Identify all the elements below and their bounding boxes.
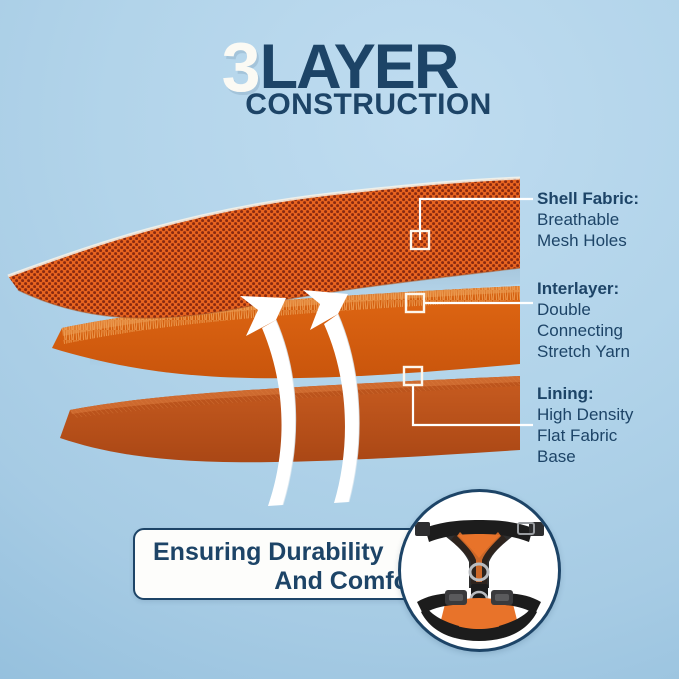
dog-harness-icon — [401, 492, 558, 649]
callout-lining-line4: Base — [537, 446, 633, 467]
callout-lining-line2: High Density — [537, 404, 633, 425]
callout-interlayer-line2: Double — [537, 299, 630, 320]
callout-shell-fabric-line3: Mesh Holes — [537, 230, 639, 251]
callout-shell-fabric-heading: Shell Fabric: — [537, 188, 639, 209]
title-block: 3LAYER CONSTRUCTION — [0, 32, 679, 132]
tagline-line-1: Ensuring Durability — [153, 537, 384, 567]
layer-stack-illustration — [0, 150, 520, 510]
callout-shell-fabric: Shell Fabric: Breathable Mesh Holes — [537, 188, 639, 251]
callout-interlayer-heading: Interlayer: — [537, 278, 630, 299]
callout-interlayer-line4: Stretch Yarn — [537, 341, 630, 362]
callout-interlayer: Interlayer: Double Connecting Stretch Ya… — [537, 278, 630, 362]
callout-shell-fabric-line2: Breathable — [537, 209, 639, 230]
callout-lining-heading: Lining: — [537, 383, 633, 404]
product-badge — [398, 489, 561, 652]
title-subtitle: CONSTRUCTION — [0, 88, 679, 122]
callout-interlayer-line3: Connecting — [537, 320, 630, 341]
infographic-poster: 3LAYER CONSTRUCTION — [0, 0, 679, 679]
callout-lining: Lining: High Density Flat Fabric Base — [537, 383, 633, 467]
callout-lining-line3: Flat Fabric — [537, 425, 633, 446]
